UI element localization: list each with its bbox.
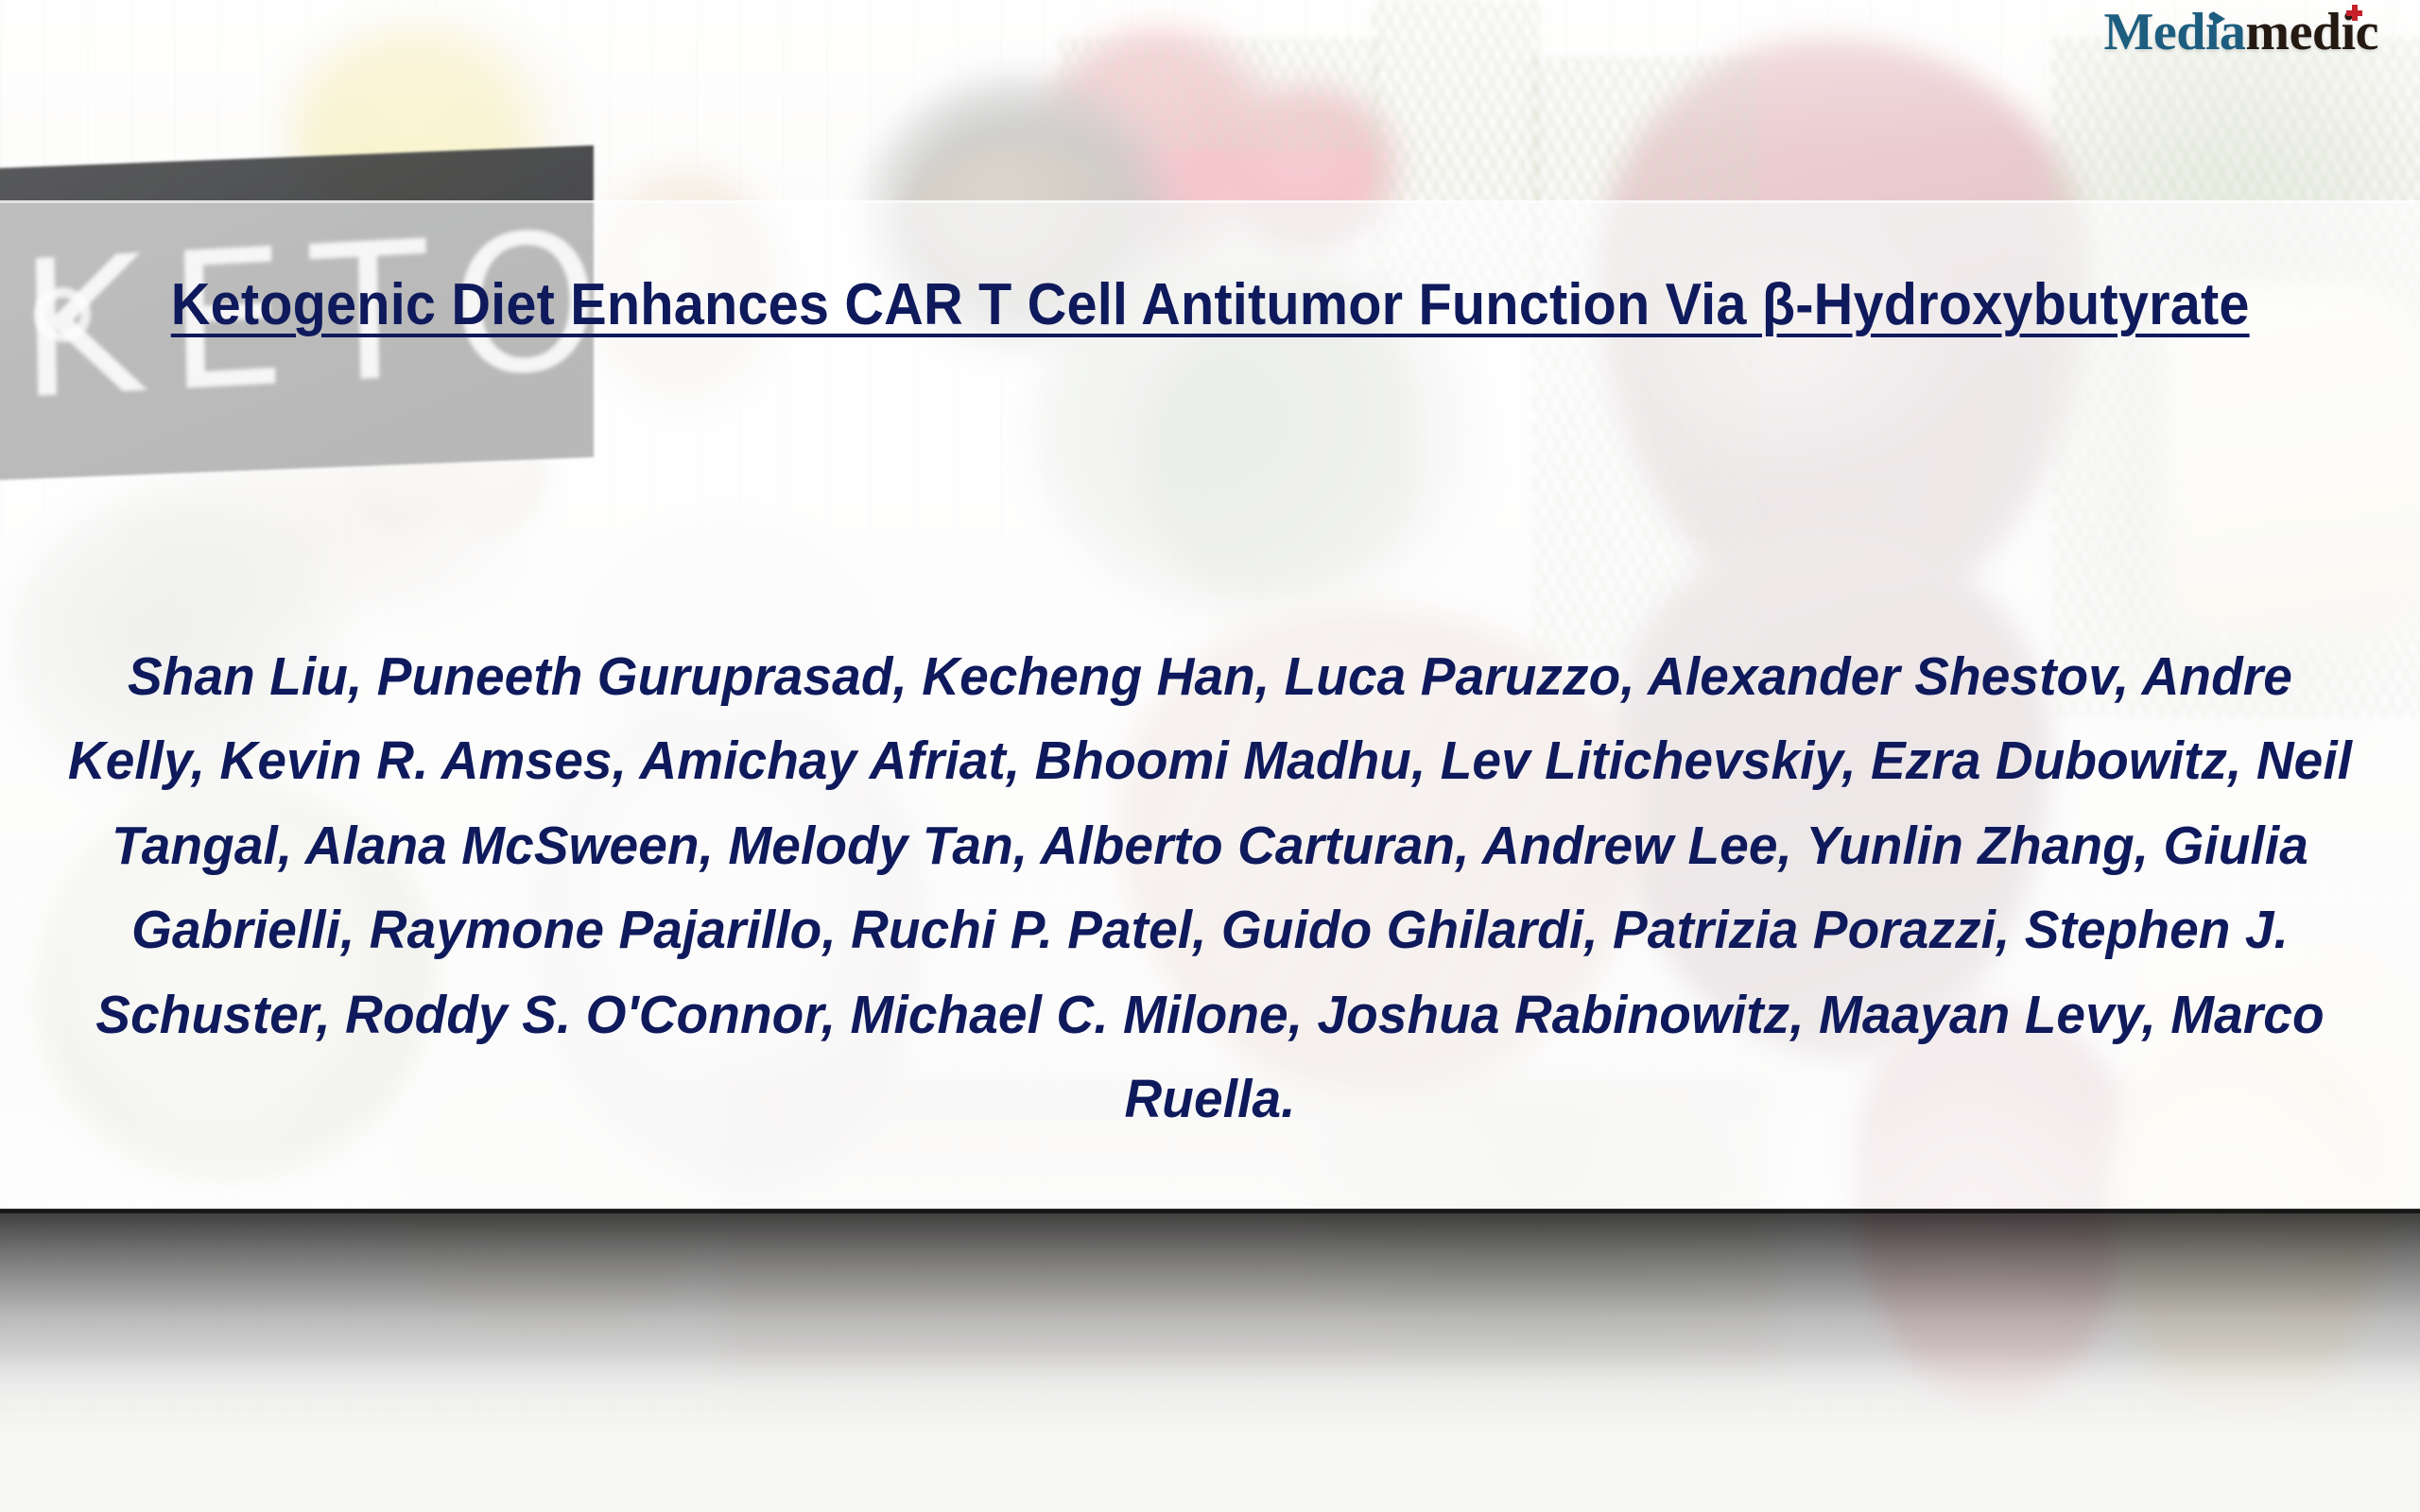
logo-text-medic: med [2245, 3, 2341, 61]
slide-title: Ketogenic Diet Enhances CAR T Cell Antit… [171, 272, 2250, 337]
logo-text-media: Med [2104, 3, 2205, 61]
slide-stage: KETO Mediamedic Ketogenic Diet Enhances … [0, 0, 2420, 1512]
slide-authors-container: Shan Liu, Puneeth Guruprasad, Kecheng Ha… [0, 635, 2420, 1143]
band-top-edge [0, 200, 2420, 203]
bottom-fade [0, 1351, 2420, 1512]
slide-authors: Shan Liu, Puneeth Guruprasad, Kecheng Ha… [68, 635, 2352, 1143]
medical-cross-icon [2346, 5, 2362, 21]
slide-title-container: Ketogenic Diet Enhances CAR T Cell Antit… [0, 272, 2420, 337]
logo-i-with-cross: i [2342, 6, 2356, 59]
play-triangle-icon [2213, 11, 2225, 26]
logo-i-with-play: i [2205, 6, 2220, 59]
mediamedic-logo[interactable]: Mediamedic [2104, 6, 2379, 59]
